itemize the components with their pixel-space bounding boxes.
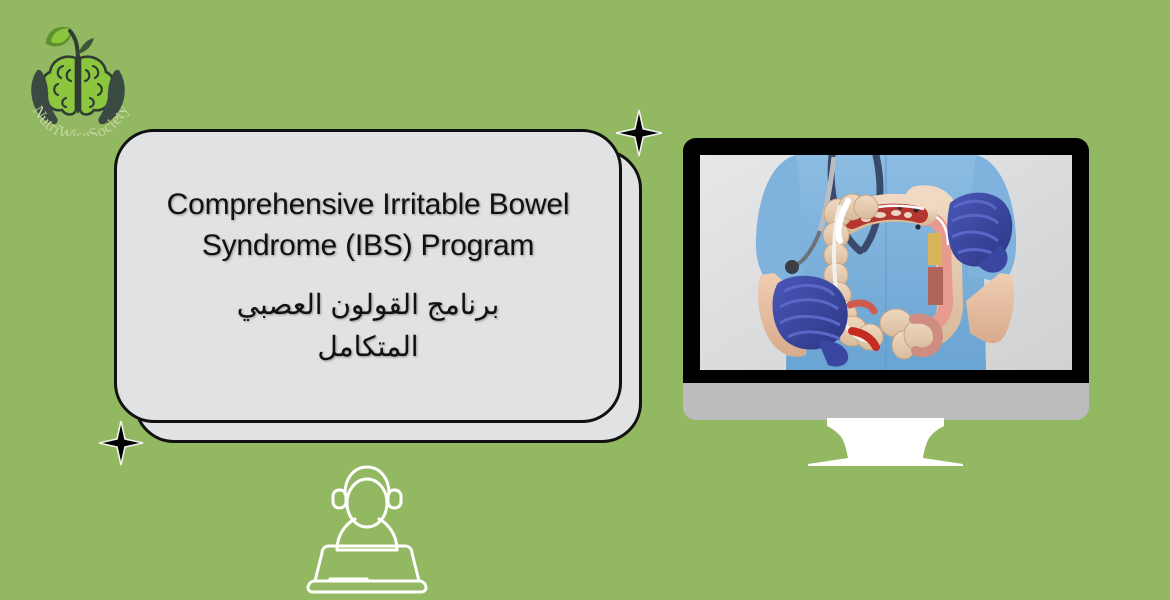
brain-plant-in-hands-logo: NutriWiseSociety xyxy=(8,6,148,136)
brand-logo: NutriWiseSociety xyxy=(8,6,148,136)
sparkle-top-right-icon xyxy=(615,109,663,157)
monitor-illustration xyxy=(683,138,1089,466)
monitor-stand xyxy=(803,418,968,466)
poster-canvas: NutriWiseSociety Comprehensive Irritable… xyxy=(0,0,1170,600)
sparkle-bottom-left-icon xyxy=(98,420,144,466)
monitor-screen xyxy=(700,155,1072,370)
colon-model-photo xyxy=(700,155,1072,370)
program-title-english: Comprehensive Irritable Bowel Syndrome (… xyxy=(153,184,583,267)
program-title-arabic: برنامج القولون العصبي المتكامل xyxy=(188,284,548,368)
support-agent-at-laptop-icon xyxy=(303,458,431,594)
monitor-chin xyxy=(683,383,1089,420)
title-card: Comprehensive Irritable Bowel Syndrome (… xyxy=(114,129,622,423)
